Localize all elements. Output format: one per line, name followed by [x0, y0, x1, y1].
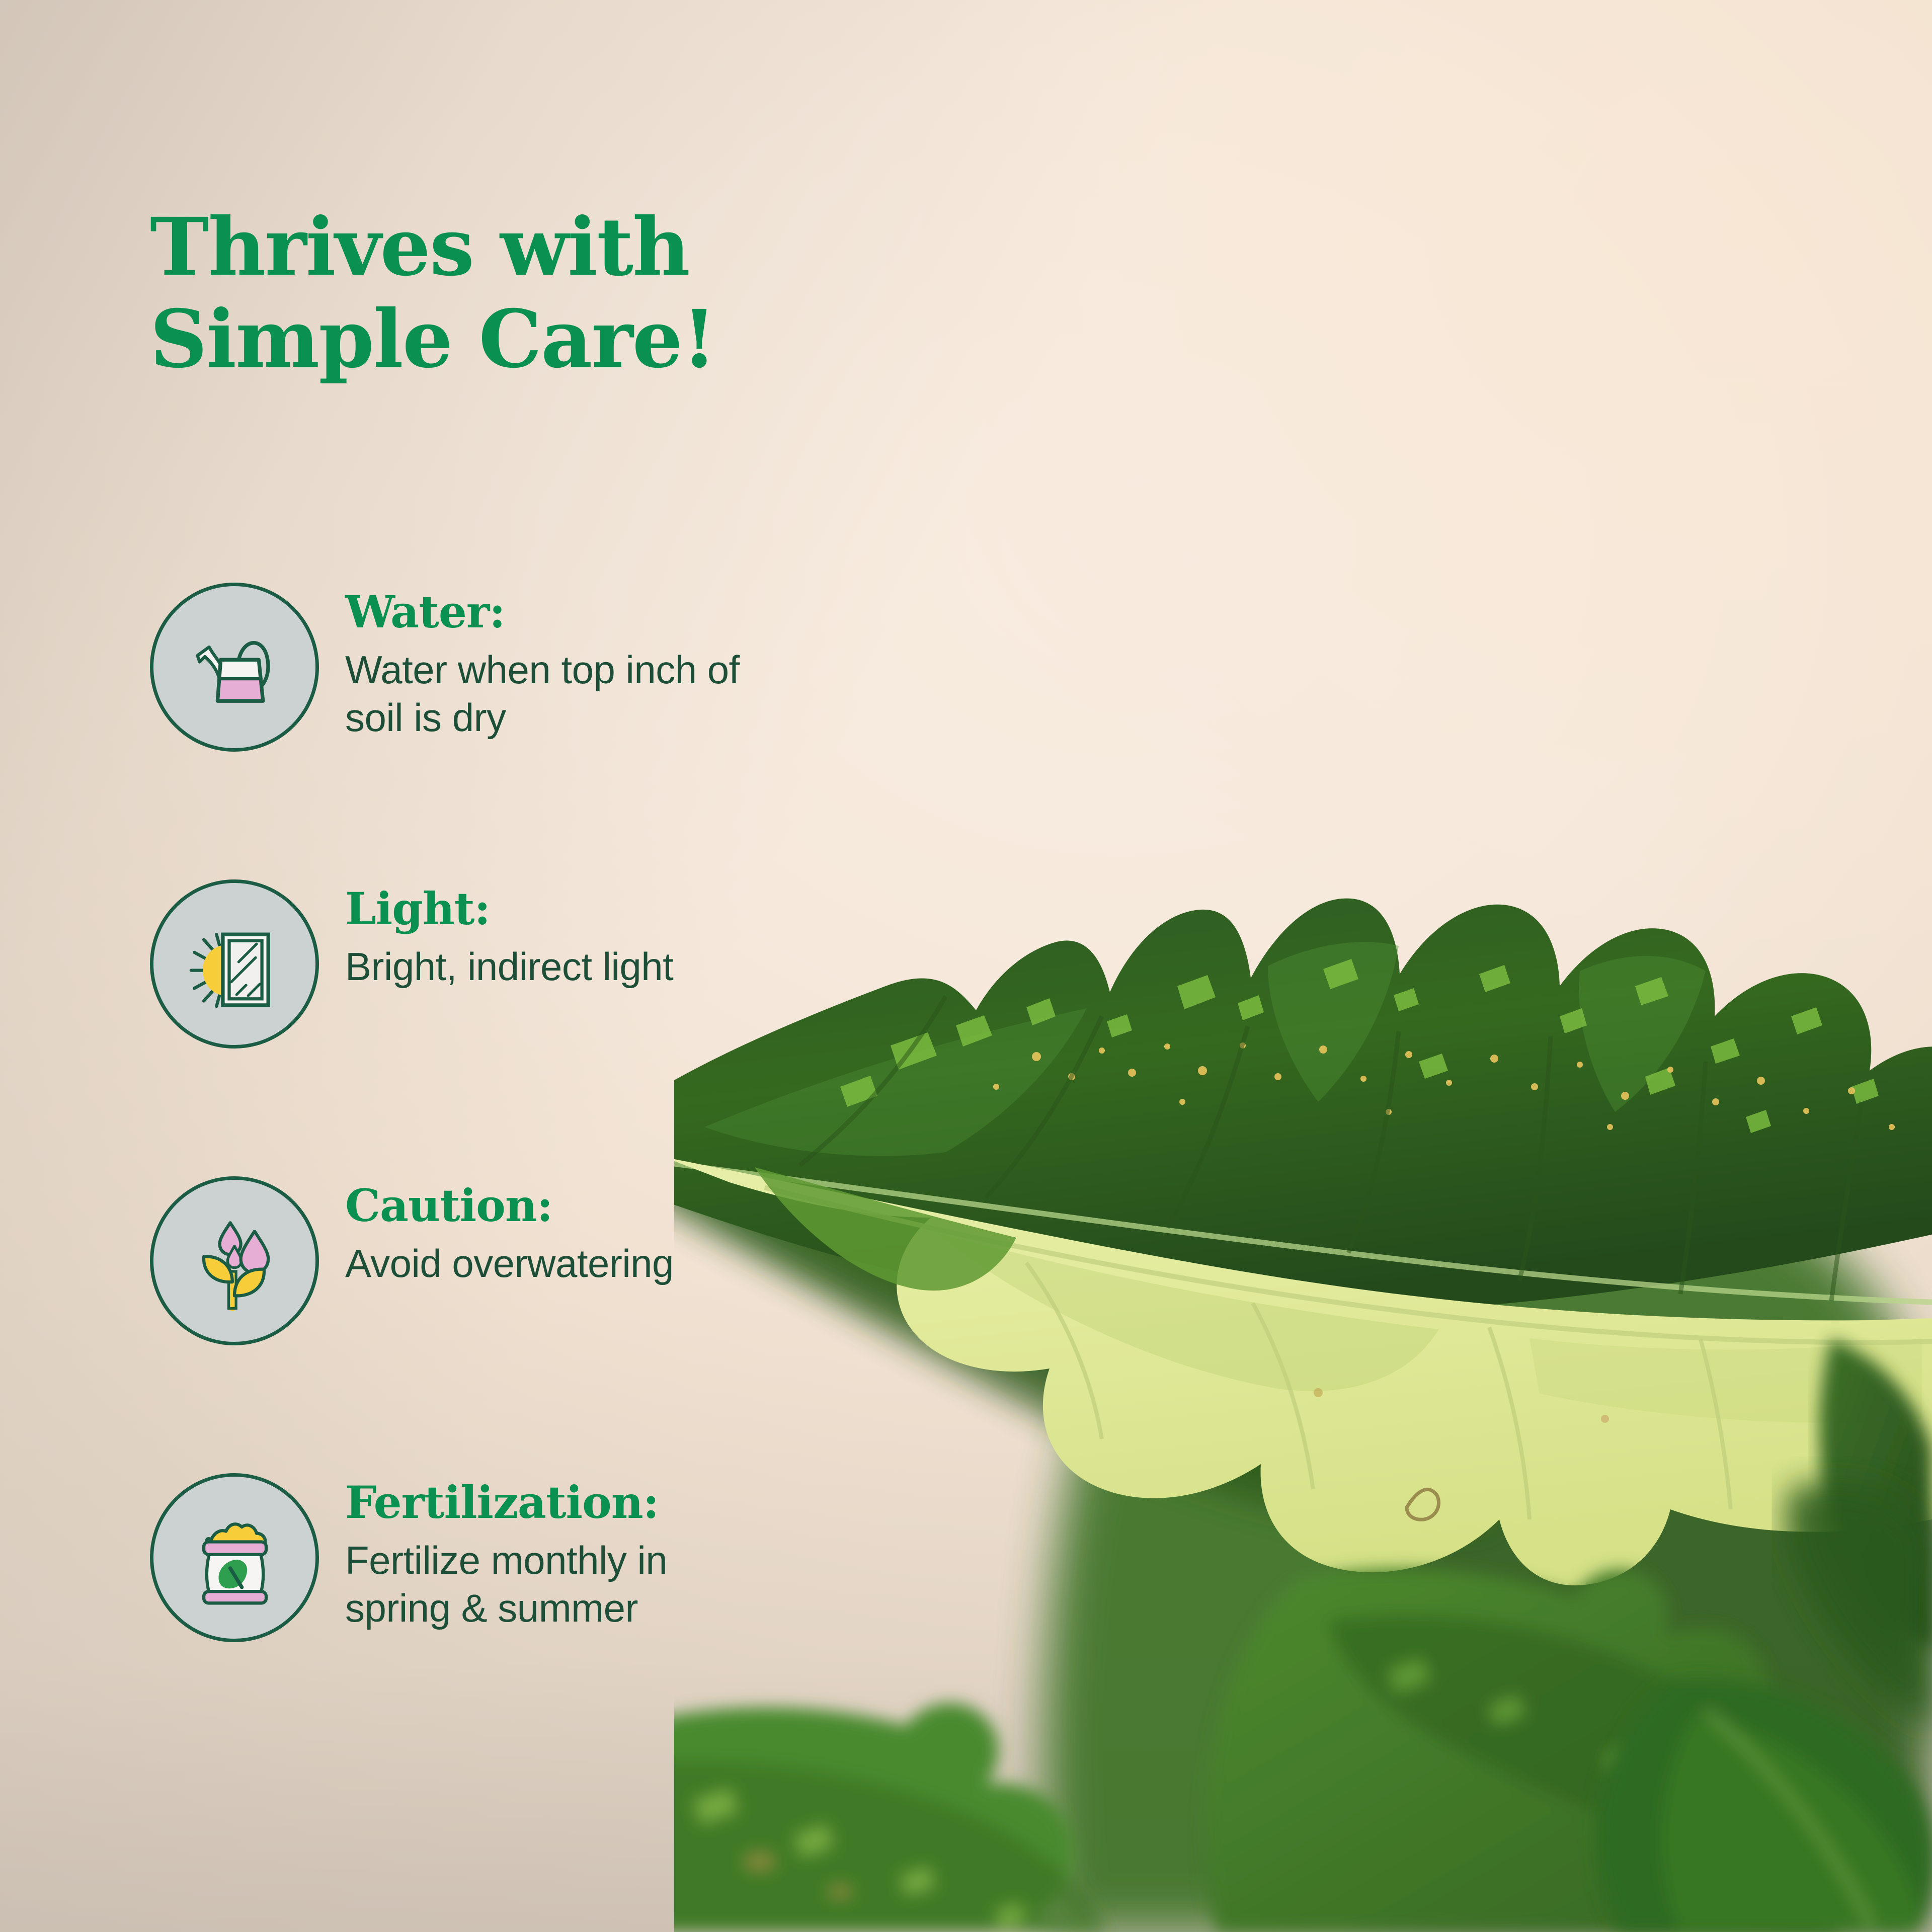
- care-text-light: Light: Bright, indirect light: [345, 879, 673, 991]
- care-title-fertilization: Fertilization:: [345, 1480, 778, 1524]
- care-desc-caution: Avoid overwatering: [345, 1240, 674, 1287]
- care-desc-fertilization: Fertilize monthly in spring & summer: [345, 1537, 778, 1632]
- fertilizer-bag-icon: [150, 1473, 319, 1642]
- care-text-water: Water: Water when top inch of soil is dr…: [345, 583, 778, 742]
- plant-photo: [674, 634, 1932, 1932]
- care-title-water: Water:: [345, 590, 778, 634]
- care-desc-water: Water when top inch of soil is dry: [345, 646, 778, 742]
- care-item-caution: Caution: Avoid overwatering: [150, 1176, 834, 1345]
- headline-line-1: Thrives with: [150, 201, 824, 293]
- care-title-light: Light:: [345, 887, 673, 931]
- care-title-caution: Caution:: [345, 1183, 674, 1228]
- care-text-fertilization: Fertilization: Fertilize monthly in spri…: [345, 1473, 778, 1632]
- sprout-droplets-icon: [150, 1176, 319, 1345]
- content-column: Thrives with Simple Care! Water: Wate: [0, 0, 855, 1932]
- care-item-light: Light: Bright, indirect light: [150, 879, 834, 1049]
- headline-line-2: Simple Care!: [150, 293, 824, 385]
- sun-window-icon: [150, 879, 319, 1049]
- care-item-water: Water: Water when top inch of soil is dr…: [150, 583, 834, 752]
- care-desc-light: Bright, indirect light: [345, 943, 673, 991]
- page-title: Thrives with Simple Care!: [150, 201, 824, 386]
- care-item-fertilization: Fertilization: Fertilize monthly in spri…: [150, 1473, 834, 1642]
- care-text-caution: Caution: Avoid overwatering: [345, 1176, 674, 1287]
- watering-can-icon: [150, 583, 319, 752]
